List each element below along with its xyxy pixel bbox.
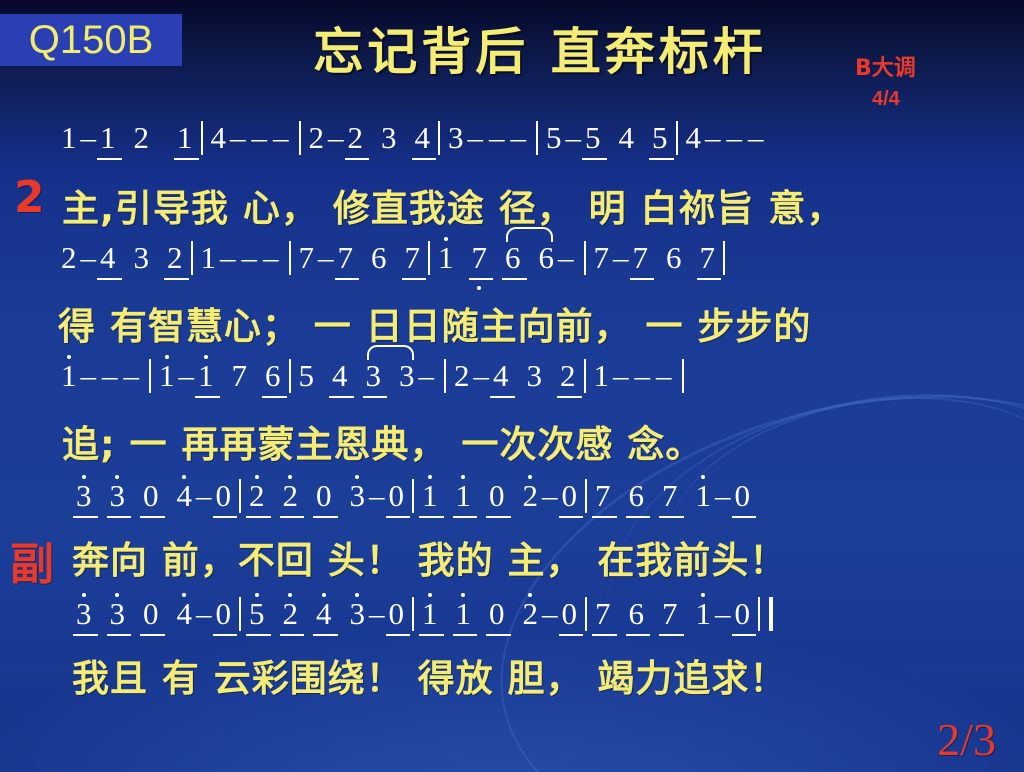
tie-slur: 33 (365, 358, 416, 394)
barline (438, 121, 440, 155)
slide-canvas: Q150B 忘记背后 直奔标杆 B大调 4/4 1–1214–––2–2343–… (0, 0, 1024, 772)
barline (585, 597, 587, 631)
barline (412, 597, 414, 631)
lyric-line-2: 得 有智慧心； 一 日日随主向前， 一 步步的 (58, 296, 811, 350)
key-signature-label: B大调 (855, 50, 916, 82)
barline (149, 359, 151, 393)
song-code-label: Q150B (29, 20, 154, 60)
barline (412, 479, 414, 513)
barline (676, 121, 678, 155)
page-number: 2/3 (937, 713, 996, 766)
notation-line-3: 1–––1–1765433–2–4321––– (60, 358, 980, 394)
chorus-marker: 副 (10, 528, 54, 592)
barline (536, 121, 538, 155)
barline (585, 479, 587, 513)
song-code-badge: Q150B (0, 14, 182, 66)
verse-number-marker: 2 (14, 172, 45, 223)
final-barline (758, 597, 773, 631)
lyric-line-4: 奔向 前，不回 头！ 我的 主， 在我前头！ (72, 530, 787, 584)
barline (239, 597, 241, 631)
barline (428, 241, 430, 275)
page-title: 忘记背后 直奔标杆 (250, 12, 830, 84)
barline (191, 241, 193, 275)
barline (682, 359, 684, 393)
barline (289, 359, 291, 393)
barline (584, 359, 586, 393)
barline (584, 241, 586, 275)
tie-slur: 66 (504, 240, 555, 276)
time-signature-label: 4/4 (872, 88, 900, 111)
lyric-line-3: 追; 一 再再蒙主恩典， 一次次感 念。 (62, 414, 703, 468)
barline (444, 359, 446, 393)
notation-line-2: 2–4321–––7–7671766–7–767 (60, 240, 980, 276)
barline (201, 121, 203, 155)
barline (299, 121, 301, 155)
notation-line-1: 1–1214–––2–2343–––5–5454––– (60, 120, 980, 156)
barline (289, 241, 291, 275)
notation-line-4: 3304–02203–01102–07671–0 (75, 478, 995, 514)
barline (723, 241, 725, 275)
decorative-swoosh-inner (647, 368, 1024, 684)
notation-line-5: 3304–05243–01102–07671–0 (75, 596, 995, 632)
barline (239, 479, 241, 513)
lyric-line-1: 主,引导我 心， 修直我途 径， 明 白祢旨 意， (62, 178, 844, 232)
lyric-line-5: 我且 有 云彩围绕！ 得放 胆， 竭力追求！ (72, 648, 787, 702)
